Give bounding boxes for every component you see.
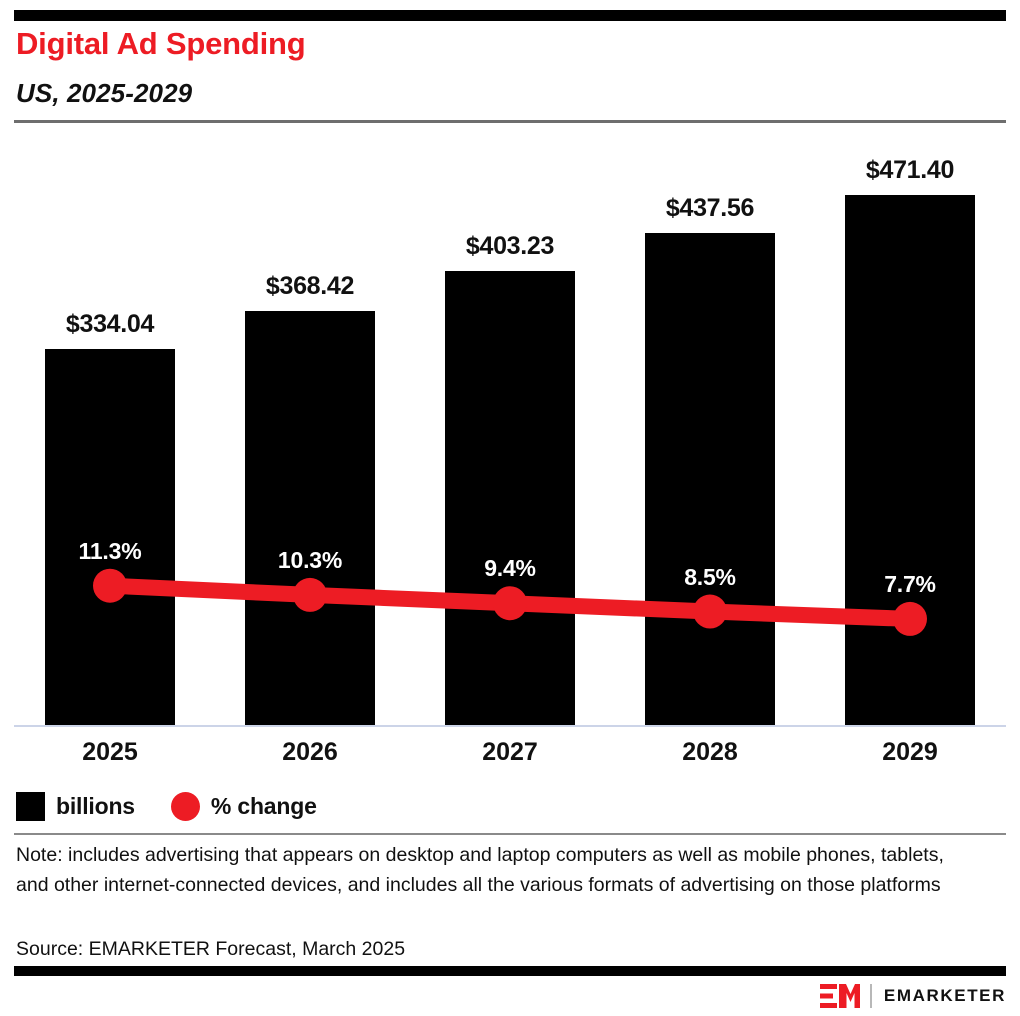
- bar-value-label-2029: $471.40: [815, 156, 1005, 185]
- x-tick-2027: 2027: [415, 738, 605, 767]
- red-circle-icon: [171, 792, 200, 821]
- brand-divider: [870, 984, 872, 1008]
- chart-page: Digital Ad Spending US, 2025-2029 $334.0…: [0, 0, 1020, 1016]
- note-rule: [14, 833, 1006, 835]
- percent-label-2026: 10.3%: [220, 547, 400, 574]
- black-square-icon: [16, 792, 45, 821]
- x-tick-2029: 2029: [815, 738, 1005, 767]
- bar-value-label-2026: $368.42: [215, 272, 405, 301]
- chart-legend: billions % change: [16, 792, 317, 821]
- brand-wordmark: EMARKETER: [884, 986, 1006, 1006]
- bar-2028: [645, 233, 775, 725]
- percent-label-2027: 9.4%: [420, 555, 600, 582]
- bar-2027: [445, 271, 575, 725]
- legend-item-billions: billions: [16, 792, 135, 821]
- bar-value-label-2025: $334.04: [15, 310, 205, 339]
- percent-label-2029: 7.7%: [820, 571, 1000, 598]
- bar-2026: [245, 311, 375, 725]
- bottom-rule: [14, 966, 1006, 976]
- bar-2029: [845, 195, 975, 725]
- page-title: Digital Ad Spending: [16, 28, 306, 61]
- chart-source: Source: EMARKETER Forecast, March 2025: [16, 934, 405, 964]
- percent-label-2028: 8.5%: [620, 564, 800, 591]
- x-tick-2026: 2026: [215, 738, 405, 767]
- emarketer-brand: EMARKETER: [820, 982, 1006, 1010]
- legend-item-percent-change: % change: [171, 792, 317, 821]
- emarketer-logo-icon: [820, 983, 860, 1009]
- top-rule: [14, 10, 1006, 21]
- bar-value-label-2028: $437.56: [615, 194, 805, 223]
- subtitle-rule: [14, 120, 1006, 123]
- x-tick-2025: 2025: [15, 738, 205, 767]
- page-subtitle: US, 2025-2029: [16, 80, 192, 107]
- legend-label-billions: billions: [56, 793, 135, 820]
- percent-label-2025: 11.3%: [20, 538, 200, 565]
- legend-label-percent-change: % change: [211, 793, 317, 820]
- x-tick-2028: 2028: [615, 738, 805, 767]
- chart-note: Note: includes advertising that appears …: [16, 840, 976, 900]
- x-axis-line: [14, 725, 1006, 727]
- bar-value-label-2027: $403.23: [415, 232, 605, 261]
